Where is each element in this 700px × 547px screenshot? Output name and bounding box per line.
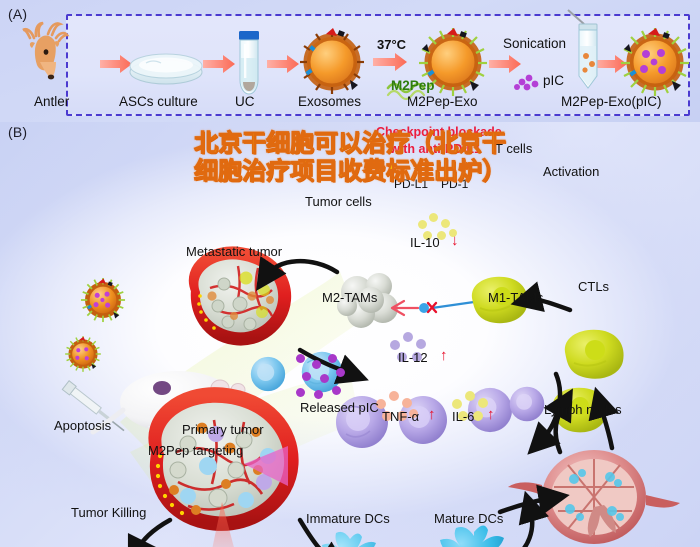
label-pd-l1: PD-L1 — [394, 177, 428, 191]
label-apoptosis: Apoptosis — [54, 418, 111, 433]
label-uc: UC — [235, 94, 255, 109]
label-activation: Activation — [543, 164, 599, 179]
panel-b: (B) — [0, 122, 700, 547]
panel-a-letter: (A) — [8, 6, 27, 22]
label-checkpoint-blockade-line2: with anti-PD-L1 — [390, 142, 481, 156]
label-tumor-killing: Tumor Killing — [71, 505, 146, 520]
label-m1-tams: M1-TAMs — [488, 290, 543, 305]
label-m2pep: M2Pep — [391, 78, 435, 93]
il-12-up-arrow: ↑ — [440, 347, 448, 364]
tnf-alpha-up-arrow: ↑ — [428, 406, 436, 423]
label-il-12: IL-12 — [398, 350, 428, 365]
label-exosomes: Exosomes — [298, 94, 361, 109]
il-6-up-arrow: ↑ — [487, 406, 495, 423]
label-il-10: IL-10 — [410, 235, 440, 250]
label-mature-dcs: Mature DCs — [434, 511, 503, 526]
label-ascs-culture: ASCs culture — [119, 94, 198, 109]
panel-b-letter: (B) — [8, 124, 27, 140]
label-temperature: 37°C — [377, 37, 406, 52]
label-immature-dcs: Immature DCs — [306, 511, 390, 526]
panel-a: (A) — [0, 0, 700, 122]
label-ctls: CTLs — [578, 279, 609, 294]
label-lymph-nodes: Lymph nodes — [544, 402, 622, 417]
label-m2-tams: M2-TAMs — [322, 290, 377, 305]
label-m2pep-exo-pic: M2Pep-Exo(pIC) — [561, 94, 662, 109]
label-m2pep-targeting: M2Pep targeting — [148, 443, 243, 458]
label-m2pep-exo: M2Pep-Exo — [407, 94, 478, 109]
label-t-cells: T cells — [495, 141, 532, 156]
panel-b-graphics — [0, 122, 700, 547]
label-released-pic: Released pIC — [300, 400, 379, 415]
il-10-down-arrow: ↓ — [451, 232, 459, 249]
label-metastatic-tumor: Metastatic tumor — [186, 244, 282, 259]
label-antler: Antler — [34, 94, 69, 109]
label-pic: pIC — [543, 73, 564, 88]
label-sonication: Sonication — [503, 36, 566, 51]
label-checkpoint-blockade-line1: Checkpoint blockade — [376, 125, 502, 139]
label-pd-1: PD-1 — [441, 177, 468, 191]
figure-root: (A) — [0, 0, 700, 547]
label-il-6: IL-6 — [452, 409, 474, 424]
label-tnf-alpha: TNF-α — [382, 409, 419, 424]
label-primary-tumor: Primary tumor — [182, 422, 264, 437]
label-tumor-cells: Tumor cells — [305, 194, 372, 209]
